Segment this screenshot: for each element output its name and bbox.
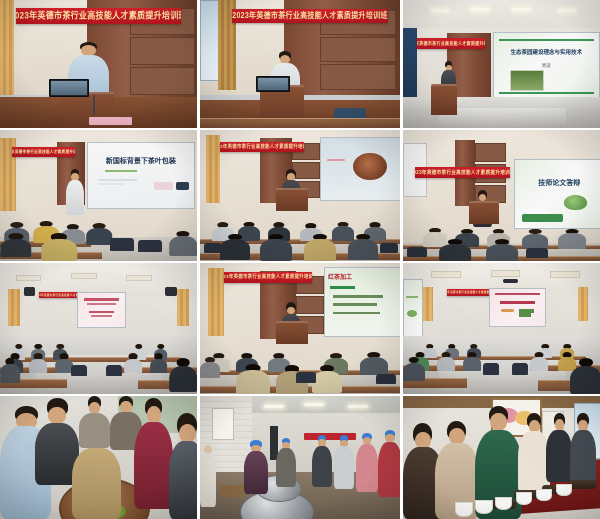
curtain bbox=[206, 135, 220, 203]
projection-screen bbox=[320, 137, 400, 202]
photo-12-tea-tasting-evaluation[interactable] bbox=[403, 396, 600, 519]
visitor-4 bbox=[356, 433, 378, 492]
photo-9-classroom-wide-red-slide[interactable]: 2023年英德市茶行业高技能人才素质提升培训班 bbox=[403, 263, 600, 394]
audience bbox=[0, 198, 197, 261]
photo-10-hands-on-rolling[interactable] bbox=[0, 396, 197, 519]
photo-7-classroom-wide[interactable]: 2023年英德市茶行业高技能人才素质提升培训班 bbox=[0, 263, 197, 394]
visitor-2 bbox=[312, 435, 332, 487]
tea-sample-3 bbox=[570, 480, 596, 490]
photo-2-opening-lecture-wide[interactable]: 2023年英德市茶行业高技能人才素质提升培训班 bbox=[200, 0, 400, 128]
laptop bbox=[49, 79, 88, 98]
audience bbox=[200, 196, 400, 262]
event-banner: 2023年英德市茶行业高技能人才素质提升培训班 bbox=[12, 147, 75, 157]
slide-title: 生态茶园建设理念与实用技术 bbox=[500, 48, 593, 56]
guide bbox=[244, 440, 268, 494]
wooden-stool bbox=[220, 485, 244, 497]
speaker-box-right bbox=[165, 287, 177, 296]
slide-tea-bowl bbox=[353, 153, 387, 181]
event-banner: 2023年英德市茶行业高技能人才素质提升培训班 bbox=[220, 142, 304, 152]
audience bbox=[200, 326, 400, 394]
visitor-edge bbox=[200, 445, 216, 507]
event-banner: 2023年英德市茶行业高技能人才素质提升培训班 bbox=[415, 167, 511, 179]
observer-red bbox=[134, 398, 173, 509]
audience bbox=[403, 206, 600, 261]
visitor-1 bbox=[276, 438, 296, 487]
event-banner: 2023年英德市茶行业高技能人才素质提升培训班 bbox=[447, 289, 495, 296]
wall-notice bbox=[212, 408, 234, 440]
slide-title: 新国标背景下茶叶包装 bbox=[94, 156, 188, 166]
laptop bbox=[256, 76, 290, 92]
tasting-cup-2 bbox=[475, 500, 493, 514]
audience bbox=[403, 313, 600, 394]
pink-papers bbox=[89, 117, 132, 126]
photo-5-lecture-center[interactable]: 2023年英德市茶行业高技能人才素质提升培训班 bbox=[200, 130, 400, 261]
event-banner: 2023年英德市茶行业高技能人才素质提升培训班 bbox=[232, 9, 388, 23]
visitor-5 bbox=[378, 430, 400, 496]
photo-3-eco-tea-garden-lecture[interactable]: 2023年英德市茶行业高技能人才素质提升培训班 生态茶园建设理念与实用技术 周波 bbox=[403, 0, 600, 128]
photo-11-tea-factory-visit[interactable] bbox=[200, 396, 400, 519]
event-banner: 2023年英德市茶行业高技能人才素质提升培训班 bbox=[224, 272, 312, 282]
photo-1-opening-lecture[interactable]: 2023年英德市茶行业高技能人才素质提升培训班 bbox=[0, 0, 197, 128]
window-left bbox=[200, 0, 220, 81]
observer-right bbox=[169, 413, 197, 519]
event-banner: 2023年英德市茶行业高技能人才素质提升培训班 bbox=[16, 8, 181, 25]
photo-collage-grid: 2023年英德市茶行业高技能人才素质提升培训班 bbox=[0, 0, 600, 515]
taster-5 bbox=[570, 413, 596, 484]
speaker-box bbox=[24, 287, 36, 296]
photo-6-thesis-defense[interactable]: 2023年英德市茶行业高技能人才素质提升培训班 技师论文答辩 bbox=[403, 130, 600, 261]
slide-author: 周波 bbox=[504, 63, 588, 69]
tasting-cup-1 bbox=[455, 502, 473, 516]
tasting-cup-5 bbox=[536, 489, 552, 501]
slide-title: 红茶加工 bbox=[328, 272, 398, 281]
slide-title: 技师论文答辩 bbox=[521, 178, 598, 188]
slide-photo bbox=[510, 70, 544, 91]
projector bbox=[503, 279, 519, 283]
curtain-left bbox=[0, 0, 14, 95]
audience bbox=[0, 313, 197, 394]
microphone-stand bbox=[93, 95, 95, 115]
photo-8-black-tea-processing[interactable]: 2023年英德市茶行业高技能人才素质提升培训班 红茶加工 bbox=[200, 263, 400, 394]
projection-screen: 生态茶园建设理念与实用技术 周波 bbox=[493, 32, 600, 98]
observer-back-1 bbox=[79, 396, 111, 448]
visitor-3 bbox=[334, 435, 354, 489]
taster-4 bbox=[546, 413, 572, 482]
tasting-cup-6 bbox=[556, 484, 572, 496]
photo-4-tea-packaging-lecture[interactable]: 2023年英德市茶行业高技能人才素质提升培训班 新国标背景下茶叶包装 bbox=[0, 130, 197, 261]
event-banner: 2023年英德市茶行业高技能人才素质提升培训班 bbox=[417, 38, 485, 48]
